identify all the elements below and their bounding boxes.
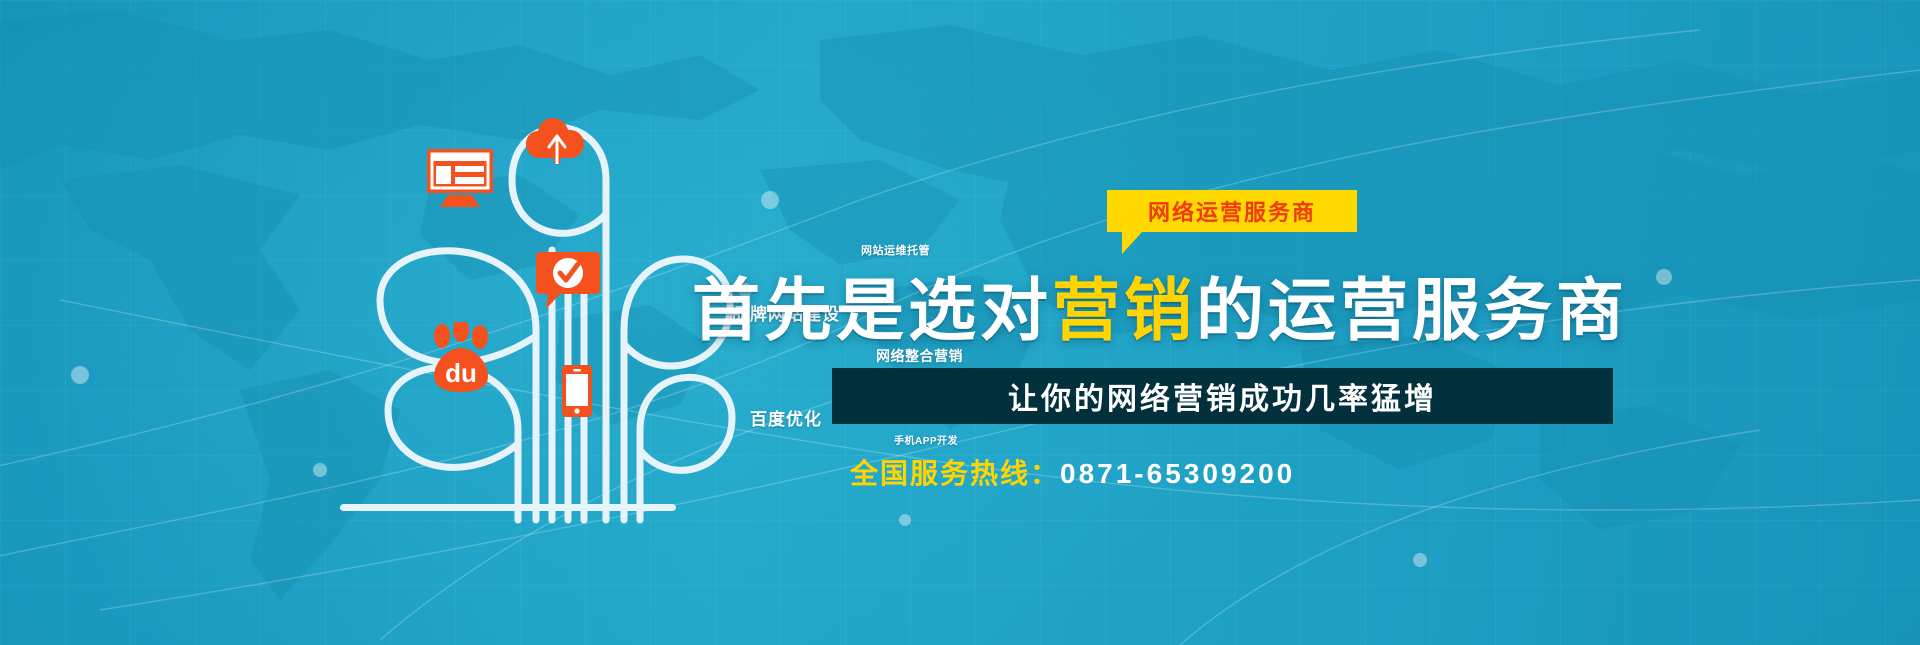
headline-part1: 首先是选对 xyxy=(692,273,1052,349)
service-badge-tail xyxy=(1122,232,1142,254)
hotline: 全国服务热线：0871-65309200 xyxy=(850,452,1295,492)
promo-banner: 品牌网站建设 网站运维托管 网络整合营销 du 百度优化 xyxy=(0,0,1920,645)
hotline-label: 全国服务热线： xyxy=(850,458,1060,489)
service-badge: 网络运营服务商 xyxy=(1107,190,1357,232)
check-bubble-icon xyxy=(536,252,600,312)
headline: 首先是选对营销的运营服务商 xyxy=(692,255,1920,354)
headline-highlight: 营销 xyxy=(1052,273,1196,349)
baidu-paw-icon: du xyxy=(428,322,494,394)
svg-text:du: du xyxy=(445,358,477,388)
service-badge-text: 网络运营服务商 xyxy=(1148,195,1316,227)
headline-part2: 的运营服务商 xyxy=(1196,273,1628,349)
subtitle-text: 让你的网络营销成功几率猛增 xyxy=(1008,374,1437,418)
cloud-upload-icon xyxy=(526,118,588,164)
mobile-phone-icon xyxy=(562,365,592,417)
subtitle-bar: 让你的网络营销成功几率猛增 xyxy=(832,368,1613,424)
banner-content: 网络运营服务商 首先是选对营销的运营服务商 让你的网络营销成功几率猛增 全国服务… xyxy=(680,0,1920,645)
monitor-icon xyxy=(425,147,495,209)
hotline-number: 0871-65309200 xyxy=(1060,458,1295,489)
